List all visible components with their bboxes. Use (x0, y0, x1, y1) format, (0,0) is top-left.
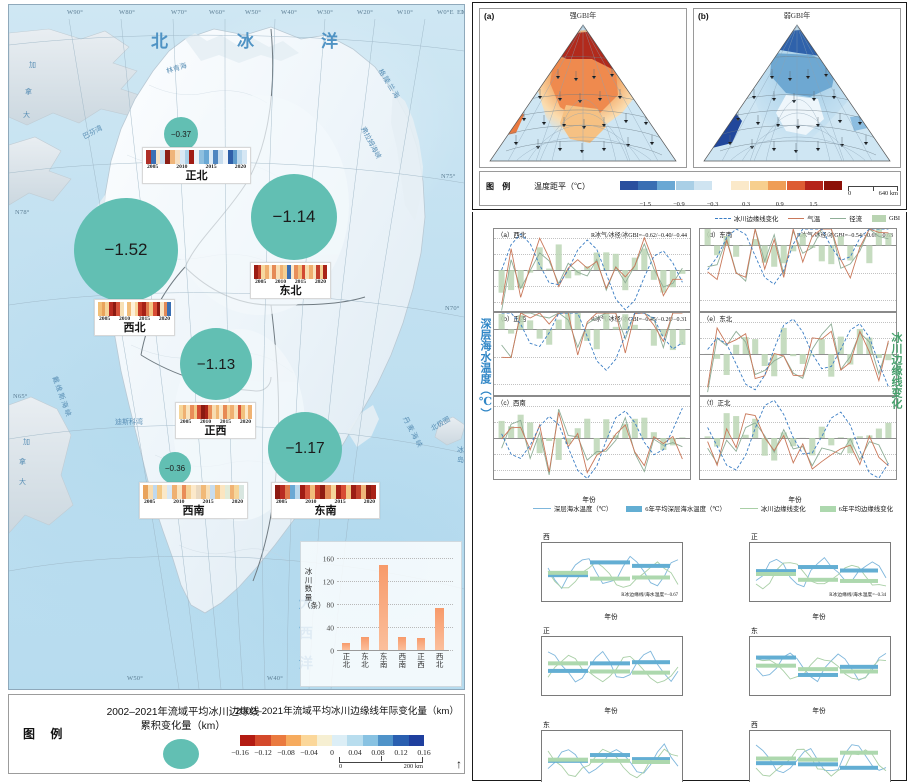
stripe-year: 2005 (276, 499, 287, 505)
north-arrow-icon: ↑ (456, 757, 462, 772)
colorbar-segment (638, 181, 656, 190)
colorbar-segment (620, 181, 638, 190)
basin-bubble-north[interactable]: −0.37 (164, 117, 198, 151)
bottom-subplot-6: 6.565.554.510−12002200820142020 (749, 730, 891, 782)
legend-label: 气温 (807, 214, 820, 223)
temperature-anomaly-colorbar-box: 图 例 温度距平（℃） −1.5−0.9−0.30.30.91.5 0 640 … (479, 171, 901, 206)
bar-chart-plot-area: 04080120160正 北东 北东 南西 南正 西西 北 (337, 552, 453, 650)
bar-chart-xtick: 西 北 (433, 653, 447, 670)
weak-gbi-anomaly-map (694, 9, 900, 167)
map-canvas: W90°W80°W70°W60°W50°W40°W30°W20°W10°W0°E… (8, 4, 465, 690)
colorbar-segment (824, 181, 842, 190)
stripe-year: 2005 (180, 419, 191, 425)
subplot-series-graphic (494, 313, 690, 395)
colorbar-segment (731, 181, 749, 190)
mid-subplot-6: （f）正北210−1−22005201020152020 (699, 396, 897, 480)
strong-gbi-anomaly-map (480, 9, 686, 167)
bottom-series-graphic (750, 731, 890, 782)
legend-label: GBI (889, 215, 900, 222)
legend-swatch (740, 508, 758, 509)
colorbar-segment (255, 735, 270, 746)
basin-bubble-value: −1.14 (272, 207, 315, 227)
bar-chart-xtick: 正 西 (414, 653, 428, 670)
sea-label: 大 (23, 110, 30, 120)
colorbar-tick: 0.9 (776, 201, 784, 208)
colorbar-segment (347, 735, 362, 746)
basin-bubble-west[interactable]: −1.13 (180, 328, 252, 400)
colorbar-tick: 1.5 (809, 201, 817, 208)
bar-chart-xtick: 东 南 (377, 653, 391, 670)
subpanel-b-weak-gbi: (b) 弱GBI年 (693, 8, 901, 168)
bottom-xlabel: 年份 (749, 705, 889, 715)
colorbar-segment (363, 735, 378, 746)
glacier-count-bar-chart: 冰川数量（条） 04080120160正 北东 北东 南西 南正 西西 北 (300, 541, 462, 687)
basin-bubble-southeast[interactable]: −1.17 (268, 412, 342, 486)
legend-item: 冰川边缘线变化 (740, 504, 806, 513)
colorbar-segment (657, 181, 675, 190)
sea-label: 大 (19, 477, 26, 487)
legend-item: 深层海水温度（℃） (533, 504, 612, 513)
sea-label: 迪斯科湾 (115, 417, 143, 427)
stripe-year: 2005 (147, 164, 158, 170)
graticule-label: W50° (245, 9, 261, 16)
bar-chart-bar (342, 643, 351, 650)
colorbar-legend-word: 图 例 (486, 181, 513, 192)
basin-name-label: 东南 (275, 505, 376, 517)
legend-label: 径流 (849, 214, 862, 223)
legend-bubble-symbol (163, 739, 199, 769)
colorbar-segment (768, 181, 786, 190)
legend-item: 气温 (788, 214, 820, 223)
colorbar-segment (240, 735, 255, 746)
colorbar-segment (378, 735, 393, 746)
stripe-year: 2020 (159, 316, 170, 322)
legend-swatch (788, 218, 804, 219)
legend-swatch (830, 218, 846, 219)
bar-chart-ytick: 80 (327, 600, 335, 609)
subplot-series-graphic (700, 397, 896, 479)
legend-colorbar-title: 2002–2021年流域平均冰川边缘线年际变化量（km） (231, 703, 463, 717)
basin-stripe-bar (98, 302, 171, 316)
bar-chart-bar (361, 637, 370, 650)
stripe-year: 2020 (235, 164, 246, 170)
bar-chart-gridline: 120 (337, 581, 453, 582)
colorbar-gradient: −1.5−0.9−0.30.30.91.5 (620, 181, 842, 190)
colorbar-tick: 0.16 (417, 748, 430, 757)
bottom-subplot-correlation: R冰边缘线/海水温度=−0.34 (829, 591, 886, 598)
graticule-label: N65° (13, 393, 28, 400)
basin-bubble-northwest[interactable]: −1.52 (74, 198, 178, 302)
colorbar-tick: 0 (330, 748, 334, 757)
legend-item: 径流 (830, 214, 862, 223)
basin-name-label: 正北 (146, 170, 247, 182)
colorbar-segment (676, 181, 694, 190)
subplot-series-graphic (494, 397, 690, 479)
basin-bubble-value: −0.36 (165, 464, 185, 473)
graticule-label: W50° (127, 675, 143, 682)
stripe-year: 2005 (255, 279, 266, 285)
sea-label: 加 (29, 60, 36, 70)
graticule-label: N80° (461, 9, 465, 16)
legend-label: 冰川边缘线变化 (734, 214, 779, 223)
bottom-subplot-2: 2.52.42.32.22.1210−1R冰边缘线/海水温度=−0.342002… (749, 542, 891, 602)
bar-chart-ylabel: 冰川数量（条） (303, 568, 314, 611)
basin-bubble-value: −1.13 (197, 356, 235, 373)
colorbar-tick: −0.04 (300, 748, 318, 757)
basin-card-northwest: 2005201020152020西北 (94, 299, 175, 336)
basin-stripe-bar (143, 485, 244, 499)
legend-item: GBI (872, 215, 900, 222)
bar-chart-ytick: 0 (330, 647, 334, 656)
graticule-label: W10° (397, 9, 413, 16)
colorbar-segment (805, 181, 823, 190)
colorbar-segment (750, 181, 768, 190)
scalebar-max: 200 km (404, 763, 423, 770)
bar-chart-ytick: 120 (323, 577, 334, 586)
timeseries-panel: 冰川边缘线变化气温径流GBI （a）西北R冰气/冰径/冰GBI=−0.62/−0… (472, 212, 907, 781)
sea-label: 加 (23, 437, 30, 447)
legend-label: 冰川边缘线变化 (761, 504, 806, 513)
graticule-label: N70° (445, 305, 460, 312)
panel-a-scalebar: 0 640 km (848, 186, 898, 191)
basin-name-label: 东北 (254, 285, 327, 297)
bottom-xlabel: 年份 (749, 611, 889, 621)
colorbar-tick: 0.04 (348, 748, 361, 757)
graticule-label: W90° (67, 9, 83, 16)
bottom-series-graphic (542, 731, 682, 782)
figure-root: W90°W80°W70°W60°W50°W40°W30°W20°W10°W0°E… (0, 0, 907, 782)
mid-subplot-4: （d）东南R冰气/冰径/冰GBI=−0.54/−0.69/−0.630−1−2 (699, 228, 897, 312)
colorbar-segment (332, 735, 347, 746)
basin-stripe-bar (179, 405, 252, 419)
stripe-year: 2005 (144, 499, 155, 505)
stripe-year: 2005 (99, 316, 110, 322)
basin-bubble-northeast[interactable]: −1.14 (251, 174, 337, 260)
map-legend-box: 图 例 2002–2021年流域平均冰川边缘线 累积变化量（km） 2002–2… (8, 694, 465, 774)
stripe-year: 2020 (240, 419, 251, 425)
basin-bubble-value: −1.52 (104, 240, 147, 260)
subplot-series-graphic (700, 229, 896, 311)
legend-swatch (626, 506, 642, 512)
bottom-subplot-1: 1.71.61.51.410−1R冰边缘线/海水温度=−0.6720022008… (541, 542, 683, 602)
graticule-label: W0°E (437, 9, 454, 16)
basin-name-label: 正西 (179, 425, 252, 437)
legend-item: 冰川边缘线变化 (715, 214, 779, 223)
sea-label: 拿 (25, 87, 32, 97)
basin-stripe-bar (146, 150, 247, 164)
basin-card-northeast: 2005201020152020东北 (250, 262, 331, 299)
graticule-label: W60° (209, 9, 225, 16)
sea-label: 冰 岛 (457, 445, 464, 465)
bar-chart-ytick: 160 (323, 554, 334, 563)
bar-chart-bar (379, 565, 388, 650)
sea-label: 拿 (19, 457, 26, 467)
bottom-subplot-5: 5.254.84.64.410−12002200820142020 (541, 730, 683, 782)
legend-bubble-title-line2: 累积变化量（km） (83, 717, 283, 732)
legend-label: 6年平均深层海水温度（℃） (645, 504, 726, 513)
scalebar-min: 0 (339, 763, 342, 770)
basin-card-southwest: 2005201020152020西南 (139, 482, 248, 519)
mid-subplot-2: （b）正西R冰气/冰径/冰GBI=−0.45/−0.26/−0.310−1−2 (493, 312, 691, 396)
colorbar-segment (787, 181, 805, 190)
graticule-label: N78° (15, 209, 30, 216)
stripe-year: 2020 (315, 279, 326, 285)
bar-chart-gridline: 160 (337, 558, 453, 559)
bottom-series-graphic (542, 637, 682, 695)
bottom-legend-block: 深层海水温度（℃）6年平均深层海水温度（℃）冰川边缘线变化6年平均边缘线变化 (523, 504, 903, 513)
legend-swatch (533, 508, 551, 509)
basin-bubble-value: −0.37 (171, 130, 191, 139)
mid-subplot-1: （a）西北R冰气/冰径/冰GBI=−0.62/−0.40/−0.44210−1−… (493, 228, 691, 312)
bottom-xlabel: 年份 (541, 705, 681, 715)
basin-bubble-southwest[interactable]: −0.36 (159, 452, 191, 484)
bar-chart-ytick: 40 (327, 623, 335, 632)
legend-swatch (872, 215, 886, 222)
bottom-subplot-correlation: R冰边缘线/海水温度=−0.67 (621, 591, 678, 598)
colorbar-segment (713, 181, 731, 190)
bottom-series-graphic (750, 637, 890, 695)
colorbar-tick: −0.12 (254, 748, 272, 757)
subplot-series-graphic (494, 229, 690, 311)
graticule-label: W30° (317, 9, 333, 16)
legend-swatch (715, 218, 731, 219)
legend-label: 6年平均边缘线变化 (839, 504, 893, 513)
colorbar-segment (393, 735, 408, 746)
bottom-xlabel: 年份 (541, 611, 681, 621)
bottom-subplot-3: 0.50.40.30.210−12002200820142020 (541, 636, 683, 696)
panel-a-scalebar-min: 0 (848, 190, 851, 197)
stripe-year: 2020 (364, 499, 375, 505)
greenland-map-panel: W90°W80°W70°W60°W50°W40°W30°W20°W10°W0°E… (0, 0, 470, 782)
mid-xlabel-right: 年份 (695, 494, 895, 504)
basin-stripe-bar (275, 485, 376, 499)
graticule-label: W20° (357, 9, 373, 16)
basin-card-southeast: 2005201020152020东南 (271, 482, 380, 519)
graticule-label: N75° (441, 173, 456, 180)
graticule-label: W40° (267, 675, 283, 682)
colorbar-tick: −0.08 (277, 748, 295, 757)
legend-colorbar: −0.16−0.12−0.08−0.0400.040.080.120.16 (240, 735, 424, 746)
basin-bubble-value: −1.17 (285, 440, 324, 458)
bottom-subplot-4: 1.61.41.21.00.810−12002200820142020 (749, 636, 891, 696)
bar-chart-xtick: 正 北 (339, 653, 353, 670)
gbi-composite-maps-panel: (a) 强GBI年 (472, 2, 907, 210)
bar-chart-bar (435, 608, 444, 650)
colorbar-tick: 0.12 (394, 748, 407, 757)
right-column: (a) 强GBI年 (472, 0, 907, 782)
subplot-series-graphic (700, 313, 896, 395)
legend-swatch (820, 506, 836, 512)
bottom-ylabel-left: 深层海水温度（℃） (477, 318, 493, 419)
colorbar-tick: 0.3 (742, 201, 750, 208)
graticule-label: W40° (281, 9, 297, 16)
mid-subplot-5: （e）东北210−1−2 (699, 312, 897, 396)
bar-chart-gridline: 80 (337, 604, 453, 605)
graticule-label: W70° (171, 9, 187, 16)
legend-item: 6年平均深层海水温度（℃） (626, 504, 726, 513)
colorbar-tick: −1.5 (639, 201, 651, 208)
colorbar-tick: −0.3 (707, 201, 719, 208)
mid-legend-row: 冰川边缘线变化气温径流GBI (715, 214, 900, 223)
bar-chart-xaxis (337, 650, 449, 651)
ocean-label: 洋 (321, 27, 338, 52)
basin-name-label: 西北 (98, 322, 171, 334)
colorbar-segment (271, 735, 286, 746)
colorbar-tick: 0.08 (371, 748, 384, 757)
ocean-label: 北 (151, 27, 168, 52)
colorbar-tick: −0.9 (673, 201, 685, 208)
bar-chart-bar (417, 638, 426, 650)
mid-xlabel-left: 年份 (489, 494, 689, 504)
map-scalebar: 0 200 km (339, 757, 423, 763)
bar-chart-xtick: 东 北 (358, 653, 372, 670)
bar-chart-xtick: 西 南 (395, 653, 409, 670)
basin-name-label: 西南 (143, 505, 244, 517)
legend-label: 深层海水温度（℃） (554, 504, 612, 513)
basin-stripe-bar (254, 265, 327, 279)
colorbar-segment (286, 735, 301, 746)
graticule-label: W80° (119, 9, 135, 16)
legend-word: 图 例 (23, 725, 68, 742)
panel-a-scalebar-max: 640 km (879, 190, 898, 197)
subpanel-a-strong-gbi: (a) 强GBI年 (479, 8, 687, 168)
basin-card-west: 2005201020152020正西 (175, 402, 256, 439)
colorbar-segment (317, 735, 332, 746)
colorbar-label: 温度距平（℃） (534, 181, 590, 192)
stripe-year: 2020 (232, 499, 243, 505)
legend-item: 6年平均边缘线变化 (820, 504, 893, 513)
bar-chart-bar (398, 637, 407, 650)
colorbar-segment (694, 181, 712, 190)
bottom-ylabel-right: 冰川边缘线变化 (888, 332, 904, 409)
mid-subplot-3: （c）西南210−1−22005201020152020 (493, 396, 691, 480)
colorbar-segment (301, 735, 316, 746)
ocean-label: 冰 (237, 27, 254, 52)
colorbar-segment (409, 735, 424, 746)
colorbar-tick: −0.16 (231, 748, 249, 757)
basin-card-north: 2005201020152020正北 (142, 147, 251, 184)
